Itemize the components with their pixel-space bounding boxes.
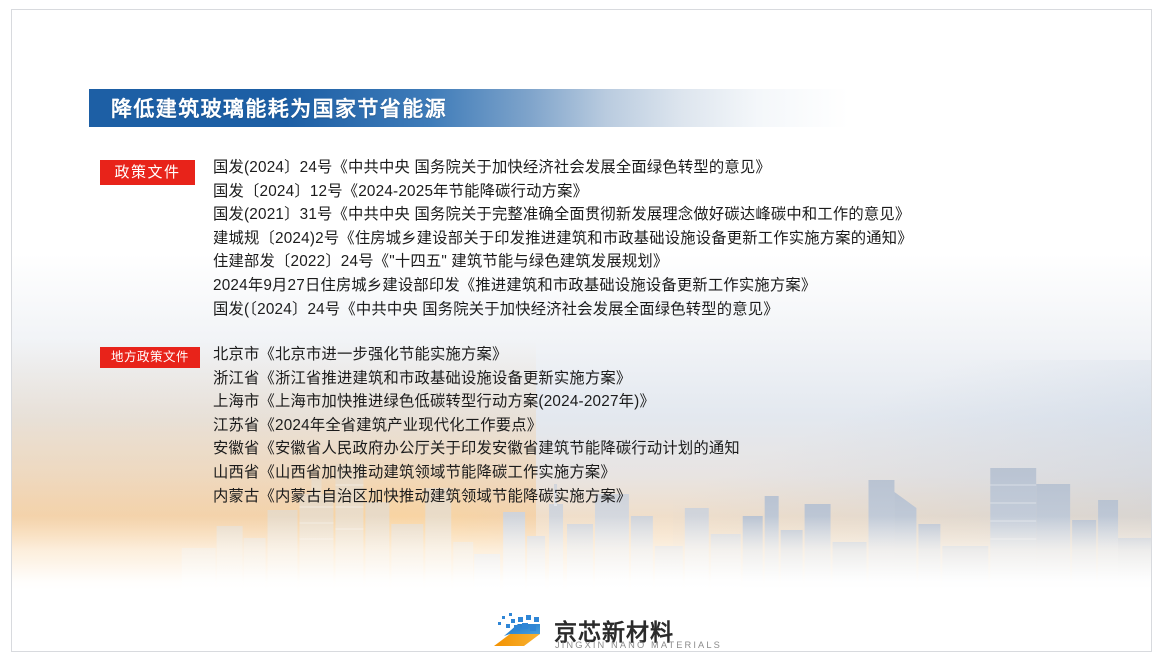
list-item: 住建部发〔2022〕24号《"十四五" 建筑节能与绿色建筑发展规划》 — [213, 250, 913, 274]
list-item: 国发(〔2024〕24号《中共中央 国务院关于加快经济社会发展全面绿色转型的意见… — [213, 298, 913, 322]
list-item: 山西省《山西省加快推动建筑领域节能降碳工作实施方案》 — [213, 461, 740, 485]
list-item: 安徽省《安徽省人民政府办公厅关于印发安徽省建筑节能降碳行动计划的通知 — [213, 437, 740, 461]
local-policy-document-list: 北京市《北京市进一步强化节能实施方案》 浙江省《浙江省推进建筑和市政基础设施设备… — [213, 343, 740, 508]
logo-mark-icon — [490, 612, 542, 652]
list-item: 浙江省《浙江省推进建筑和市政基础设施设备更新实施方案》 — [213, 367, 740, 391]
list-item: 上海市《上海市加快推进绿色低碳转型行动方案(2024-2027年)》 — [213, 390, 740, 414]
badge-local-policy-documents: 地方政策文件 — [100, 347, 200, 368]
list-item: 建城规〔2024)2号《住房城乡建设部关于印发推进建筑和市政基础设施设备更新工作… — [213, 227, 913, 251]
slide-title-bar: 降低建筑玻璃能耗为国家节省能源 — [89, 89, 849, 127]
company-logo: 京芯新材料 JINGXIN NANO MATERIALS — [490, 611, 680, 652]
list-item: 国发(2024〕24号《中共中央 国务院关于加快经济社会发展全面绿色转型的意见》 — [213, 156, 913, 180]
badge-policy-documents: 政策文件 — [100, 160, 195, 185]
policy-document-list: 国发(2024〕24号《中共中央 国务院关于加快经济社会发展全面绿色转型的意见》… — [213, 156, 913, 321]
list-item: 北京市《北京市进一步强化节能实施方案》 — [213, 343, 740, 367]
logo-name-en: JINGXIN NANO MATERIALS — [555, 640, 722, 650]
list-item: 2024年9月27日住房城乡建设部印发《推进建筑和市政基础设施设备更新工作实施方… — [213, 274, 913, 298]
list-item: 国发(2021〕31号《中共中央 国务院关于完整准确全面贯彻新发展理念做好碳达峰… — [213, 203, 913, 227]
slide-canvas: 降低建筑玻璃能耗为国家节省能源 政策文件 国发(2024〕24号《中共中央 国务… — [11, 9, 1152, 652]
list-item: 江苏省《2024年全省建筑产业现代化工作要点》 — [213, 414, 740, 438]
page-title: 降低建筑玻璃能耗为国家节省能源 — [111, 93, 447, 123]
list-item: 内蒙古《内蒙古自治区加快推动建筑领域节能降碳实施方案》 — [213, 485, 740, 509]
list-item: 国发〔2024〕12号《2024-2025年节能降碳行动方案》 — [213, 180, 913, 204]
